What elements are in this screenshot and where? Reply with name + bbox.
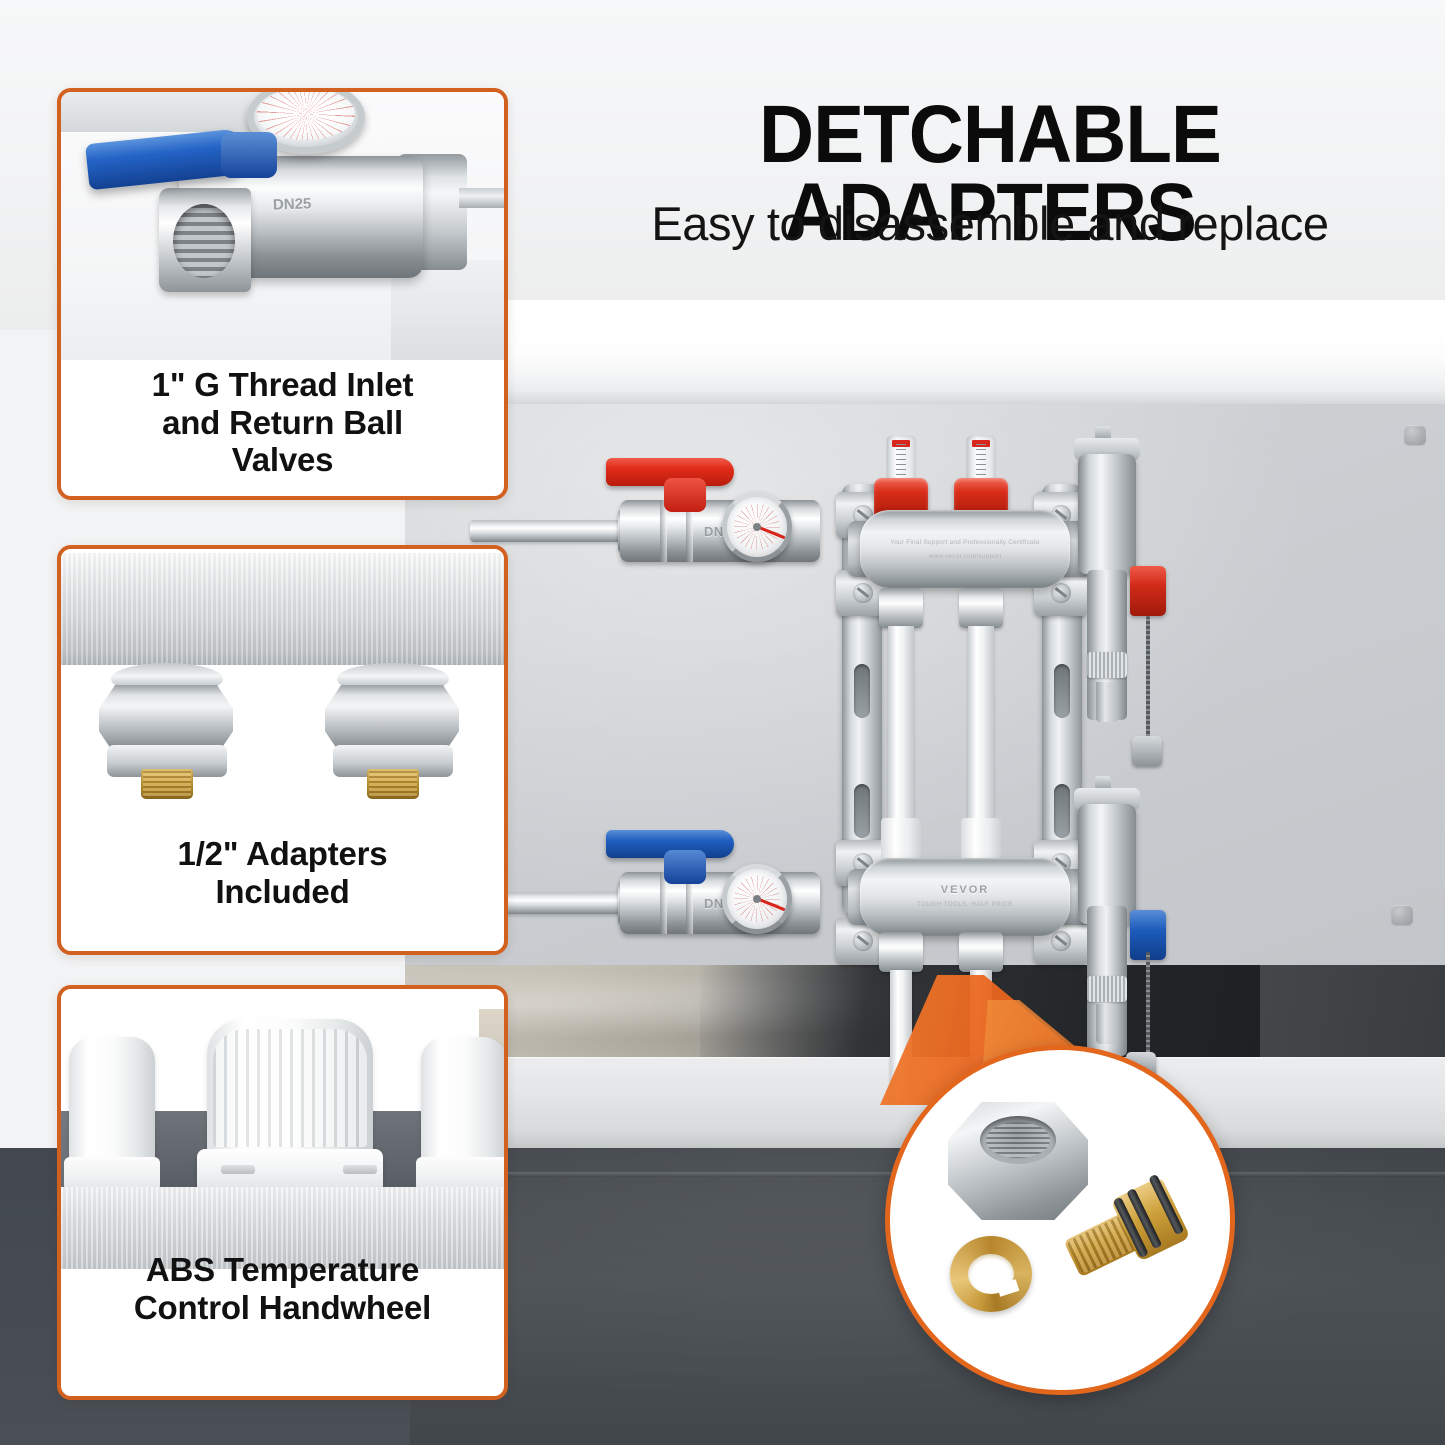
bracket-slot [1054, 664, 1070, 718]
callout-caption-line1: 1" G Thread Inlet [61, 366, 504, 404]
vevor-logo: VEVOR [860, 884, 1070, 896]
handwheel-notch [221, 1165, 255, 1174]
bracket-slot [854, 664, 870, 718]
callout-photo-adapters [61, 549, 504, 821]
callout-caption-line1: 1/2" Adapters [61, 835, 504, 873]
callout-caption-line2: Included [61, 873, 504, 911]
outlet-nut [959, 932, 1003, 972]
page-subtitle: Easy to disassemble and replace [565, 196, 1415, 251]
hex-bolt-icon [1391, 905, 1413, 925]
hex-bolt-icon [1404, 425, 1426, 445]
brass-thread-ridges [369, 771, 417, 797]
panel-lip [405, 392, 1445, 404]
drain-chain [1146, 952, 1150, 1062]
brass-thread-ridges [143, 771, 191, 797]
inlet-temperature-gauge [722, 492, 792, 562]
drain-chain-cap [1132, 736, 1162, 766]
manifold-cert-text: Your Final Support and Professionally Ce… [860, 538, 1070, 548]
top-drain-valve-red[interactable] [1130, 566, 1166, 616]
callout-photo-ball-valve: DN25 [61, 92, 504, 360]
inlet-valve-lever-hub[interactable] [664, 478, 706, 512]
vevor-tagline: TOUGH TOOLS, HALF PRICE [860, 902, 1070, 908]
callout-card-adapters: 1/2" Adapters Included [57, 545, 508, 955]
manifold-assembly: DN25 DN25 [470, 420, 1190, 1060]
callout-caption-line3: Valves [61, 441, 504, 479]
valve-rod [459, 188, 504, 208]
upper-manifold-bar: Your Final Support and Professionally Ce… [860, 510, 1070, 588]
drain-spout [1096, 682, 1118, 722]
brushed-metal-grain [61, 553, 504, 665]
screw-icon [1051, 931, 1071, 951]
riser-nut [959, 588, 1003, 628]
adapter-closeup-magnifier [885, 1045, 1235, 1395]
white-cabinet-panel [405, 300, 1445, 400]
adapter-left [93, 657, 239, 803]
valve-marking: DN25 [273, 195, 312, 213]
bracket-slot [1054, 784, 1070, 838]
bracket-slot [854, 784, 870, 838]
callout-card-handwheel: ABS Temperature Control Handwheel [57, 985, 508, 1400]
drain-knurl [1087, 976, 1127, 1002]
handwheel-left [69, 1037, 155, 1163]
adapter-right [319, 657, 465, 803]
air-vent-body [1078, 454, 1136, 574]
outlet-nut [879, 932, 923, 972]
handwheel-ribs [213, 1029, 367, 1147]
gauge-pin [753, 523, 761, 531]
callout-card-ball-valves: DN25 1" G Thread Inlet and Return Ball V… [57, 88, 508, 500]
thread-bore [173, 204, 235, 278]
handwheel-right [421, 1037, 504, 1163]
riser-pipe [968, 626, 994, 836]
handwheel-notch [343, 1165, 377, 1174]
lever-hub [221, 132, 277, 178]
callout-caption-line1: ABS Temperature [61, 1251, 504, 1289]
screw-icon [1051, 583, 1071, 603]
riser-pipe [888, 626, 914, 836]
gauge-pin [753, 895, 761, 903]
riser-nut [879, 588, 923, 628]
drain-chain [1146, 616, 1150, 740]
screw-icon [853, 931, 873, 951]
drain-knurl [1087, 652, 1127, 678]
lower-manifold-bar: VEVOR TOUGH TOOLS, HALF PRICE [860, 858, 1070, 936]
callout-photo-handwheel [61, 989, 504, 1269]
return-temperature-gauge [722, 864, 792, 934]
return-valve-lever-hub[interactable] [664, 850, 706, 884]
manifold-cert-url: www.vevor.com/support [860, 552, 1070, 562]
screw-icon [853, 583, 873, 603]
drain-spout [1096, 1004, 1118, 1044]
callout-caption-line2: and Return Ball [61, 404, 504, 442]
callout-caption-line2: Control Handwheel [61, 1289, 504, 1327]
compression-nut-threads [986, 1122, 1050, 1158]
